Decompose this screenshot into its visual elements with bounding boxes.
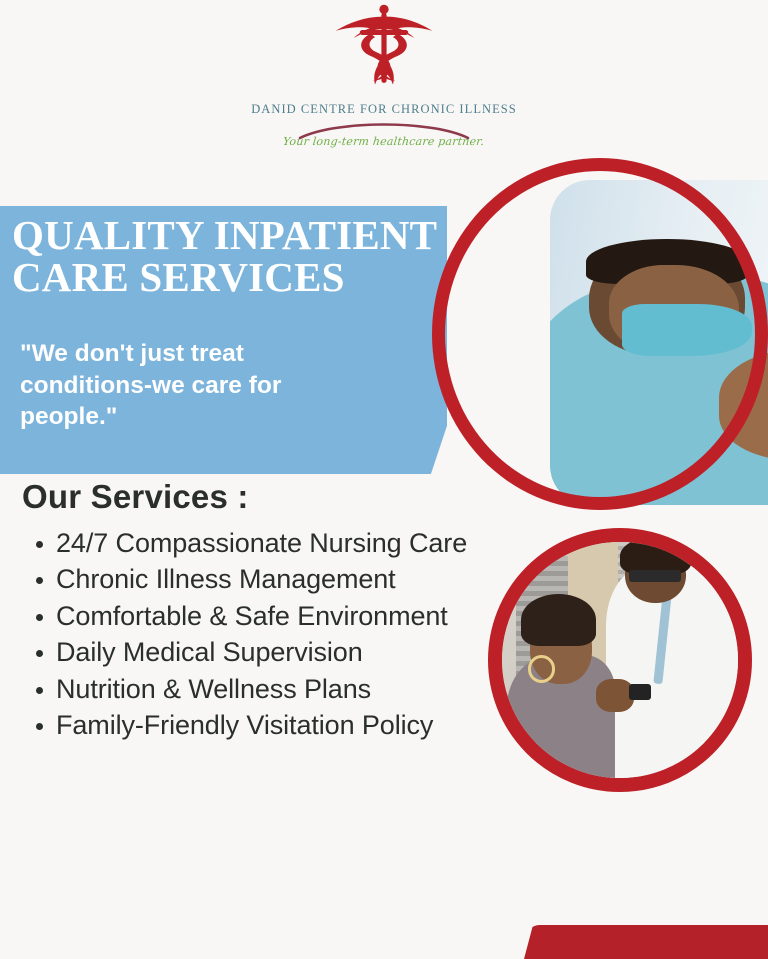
services-list: 24/7 Compassionate Nursing Care Chronic … <box>28 528 526 747</box>
page-title-line2: CARE SERVICES <box>12 256 452 298</box>
list-item: Daily Medical Supervision <box>56 637 526 668</box>
brand-name: DANID CENTRE FOR CHRONIC ILLNESS <box>251 102 517 117</box>
brand-logo: DANID CENTRE FOR CHRONIC ILLNESS Your lo… <box>0 0 768 165</box>
brand-tagline: Your long-term healthcare partner. <box>283 135 486 148</box>
red-oval-ring <box>432 158 768 510</box>
list-item: 24/7 Compassionate Nursing Care <box>56 528 526 559</box>
page-title: QUALITY INPATIENT CARE SERVICES <box>12 214 452 298</box>
tagline-quote: "We don't just treat conditions-we care … <box>20 338 350 433</box>
circle-photo-group <box>488 528 752 792</box>
doctor-examining-elderly-patient-photo <box>488 528 752 792</box>
list-item: Nutrition & Wellness Plans <box>56 674 526 705</box>
services-heading: Our Services : <box>22 478 249 516</box>
list-item: Chronic Illness Management <box>56 564 526 595</box>
bottom-accent-bar <box>524 925 768 959</box>
list-item: Comfortable & Safe Environment <box>56 601 526 632</box>
caduceus-icon <box>330 4 438 90</box>
list-item: Family-Friendly Visitation Policy <box>56 710 526 741</box>
page-title-line1: QUALITY INPATIENT <box>12 212 437 258</box>
top-photo-group <box>432 158 768 510</box>
poster-canvas: DANID CENTRE FOR CHRONIC ILLNESS Your lo… <box>0 0 768 959</box>
